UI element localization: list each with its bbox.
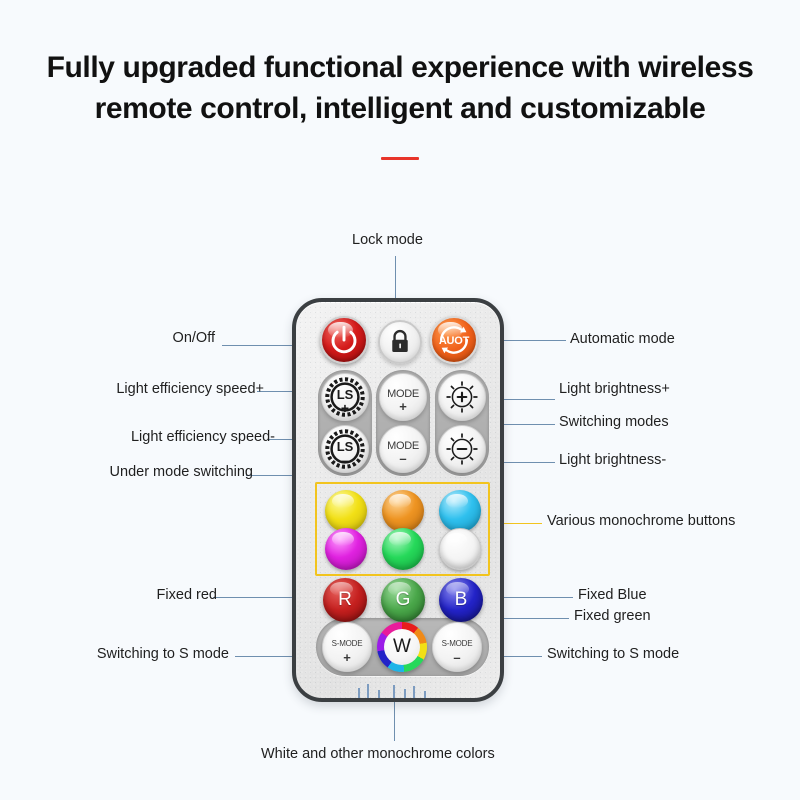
annotation-brightness-plus: Light brightness+ [559, 381, 670, 397]
remote-control-body: AUOT LS + MODE + [292, 298, 504, 702]
color-button-white[interactable] [439, 528, 481, 570]
smode-minus-button[interactable]: S-MODE – [432, 622, 482, 672]
fixed-blue-button[interactable]: B [439, 578, 483, 622]
power-button[interactable] [320, 316, 368, 364]
color-button-cyan[interactable] [439, 490, 481, 532]
smode-plus-sign: + [323, 650, 371, 665]
brightness-minus-button[interactable] [438, 425, 486, 473]
lock-icon [380, 322, 420, 362]
mode-plus-button[interactable]: MODE + [379, 373, 427, 421]
brightness-down-icon [439, 426, 485, 472]
annotation-fixed-red: Fixed red [157, 587, 217, 603]
bottom-tick-marks [296, 680, 500, 698]
page-title: Fully upgraded functional experience wit… [0, 48, 800, 129]
fixed-blue-label: B [455, 589, 468, 611]
ls-minus-button[interactable]: LS – [321, 425, 369, 473]
auto-button[interactable]: AUOT [430, 316, 478, 364]
smode-plus-label: S-MODE [323, 640, 371, 648]
fixed-red-button[interactable]: R [323, 578, 367, 622]
mode-minus-sign: – [380, 454, 426, 464]
annotation-white-colors: White and other monochrome colors [261, 746, 495, 762]
annotation-on-off: On/Off [173, 330, 215, 346]
annotation-switching-modes: Switching modes [559, 414, 669, 430]
annotation-speed-plus: Light efficiency speed+ [116, 381, 264, 397]
ls-plus-button[interactable]: LS + [321, 373, 369, 421]
mode-minus-button[interactable]: MODE – [379, 425, 427, 473]
title-underline-accent [381, 157, 419, 160]
ls-ring-icon [322, 426, 368, 472]
color-button-yellow[interactable] [325, 490, 367, 532]
headline-line-1: Fully upgraded functional experience wit… [47, 51, 754, 84]
annotation-under-mode-switching: Under mode switching [110, 464, 253, 480]
annotation-speed-minus: Light efficiency speed- [131, 429, 275, 445]
fixed-green-button[interactable]: G [381, 578, 425, 622]
annotation-fixed-blue: Fixed Blue [578, 587, 647, 603]
annotation-automatic-mode: Automatic mode [570, 331, 675, 347]
white-button-label: W [393, 636, 411, 658]
brightness-plus-button[interactable] [438, 373, 486, 421]
ls-ring-icon [322, 374, 368, 420]
color-button-green[interactable] [382, 528, 424, 570]
smode-plus-button[interactable]: S-MODE + [322, 622, 372, 672]
annotation-lock-mode: Lock mode [352, 232, 423, 248]
smode-minus-label: S-MODE [433, 640, 481, 648]
annotation-fixed-green: Fixed green [574, 608, 651, 624]
color-button-magenta[interactable] [325, 528, 367, 570]
annotation-brightness-minus: Light brightness- [559, 452, 666, 468]
annotation-smode-left: Switching to S mode [97, 646, 229, 662]
color-button-orange[interactable] [382, 490, 424, 532]
white-button-inner: W [384, 629, 420, 665]
lock-button[interactable] [378, 320, 422, 364]
annotation-various-monochrome: Various monochrome buttons [547, 513, 735, 529]
white-button[interactable]: W [377, 622, 427, 672]
brightness-up-icon [439, 374, 485, 420]
auto-refresh-icon [432, 318, 476, 362]
mode-plus-label: MODE [380, 389, 426, 400]
power-icon [322, 318, 366, 362]
mode-minus-label: MODE [380, 441, 426, 452]
mode-plus-sign: + [380, 402, 426, 412]
annotation-smode-right: Switching to S mode [547, 646, 679, 662]
smode-minus-sign: – [433, 650, 481, 665]
fixed-green-label: G [396, 589, 411, 611]
fixed-red-label: R [338, 589, 352, 611]
headline-line-2: remote control, intelligent and customiz… [0, 89, 800, 130]
poster-canvas: Fully upgraded functional experience wit… [0, 0, 800, 800]
